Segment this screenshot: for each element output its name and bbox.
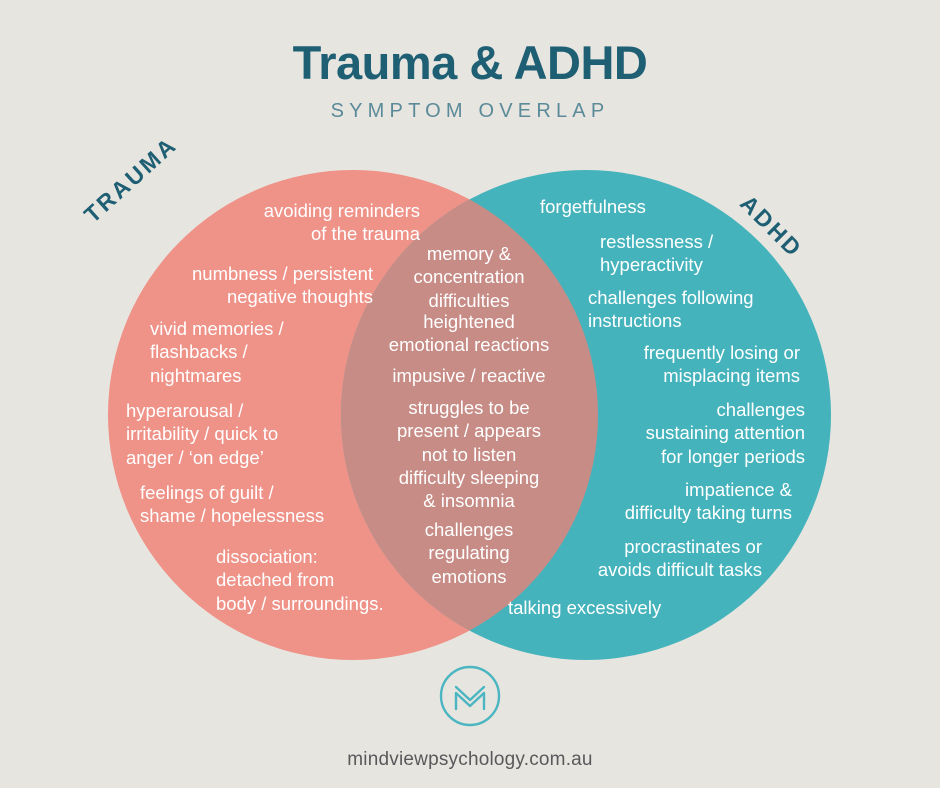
overlap-symptom-1: memory & concentration difficulties	[374, 242, 564, 312]
website-url[interactable]: mindviewpsychology.com.au	[0, 749, 940, 771]
adhd-symptom-6: impatience & difficulty taking turns	[570, 478, 792, 525]
trauma-symptom-4: hyperarousal / irritability / quick to a…	[126, 399, 386, 469]
adhd-symptom-3: challenges following instructions	[588, 286, 828, 333]
overlap-symptom-6: challenges regulating emotions	[374, 518, 564, 588]
mindview-logo-icon	[438, 664, 502, 728]
overlap-symptom-4: struggles to be present / appears not to…	[374, 396, 564, 466]
adhd-symptom-7: procrastinates or avoids difficult tasks	[564, 535, 762, 582]
adhd-symptom-8: talking excessively	[508, 596, 748, 619]
adhd-symptom-2: restlessness / hyperactivity	[600, 230, 830, 277]
overlap-symptom-5: difficulty sleeping & insomnia	[366, 466, 572, 513]
overlap-symptom-2: heightened emotional reactions	[359, 310, 579, 357]
overlap-symptom-3: impusive / reactive	[359, 364, 579, 387]
trauma-symptom-2: numbness / persistent negative thoughts	[115, 262, 373, 309]
adhd-symptom-5: challenges sustaining attention for long…	[575, 398, 805, 468]
adhd-symptom-4: frequently losing or misplacing items	[580, 341, 800, 388]
trauma-symptom-1: avoiding reminders of the trauma	[175, 199, 420, 246]
trauma-symptom-5: feelings of guilt / shame / hopelessness	[140, 481, 400, 528]
adhd-symptom-1: forgetfulness	[540, 195, 780, 218]
footer: mindviewpsychology.com.au	[0, 664, 940, 771]
